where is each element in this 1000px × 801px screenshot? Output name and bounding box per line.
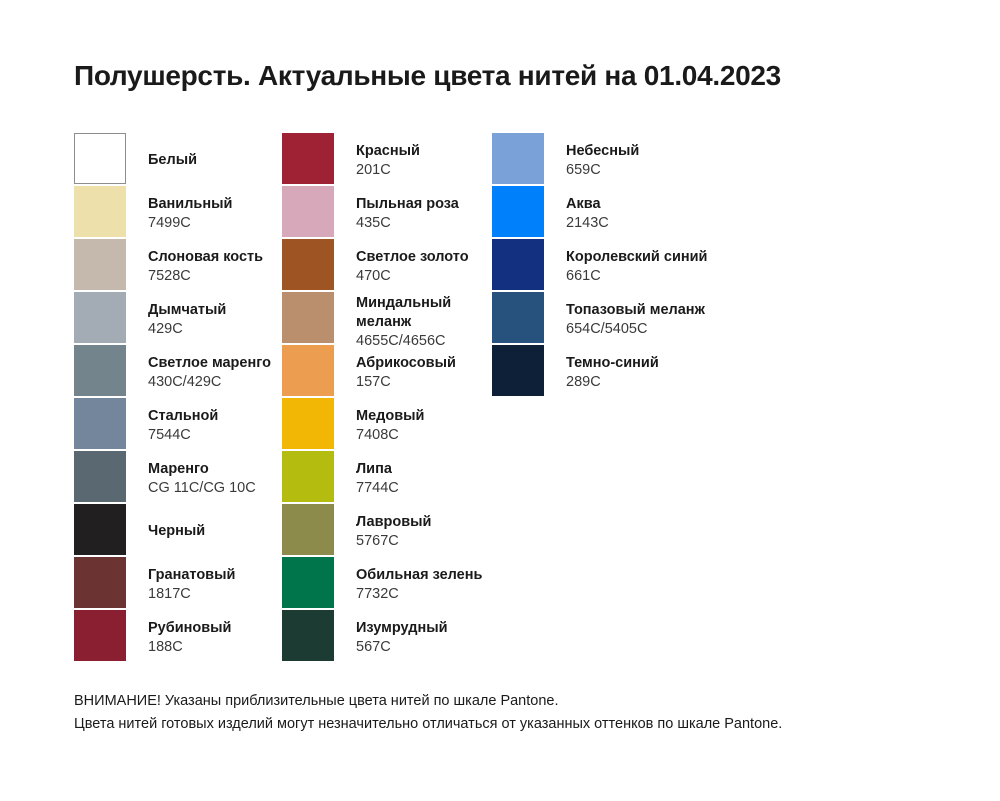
swatch-row: Королевский синий661C: [492, 239, 752, 292]
swatch-labels: Слоновая кость7528C: [148, 239, 263, 290]
color-name: Аква: [566, 195, 609, 214]
color-code: 5767C: [356, 532, 431, 551]
color-swatch: [492, 239, 544, 290]
color-code: 430C/429C: [148, 373, 271, 392]
color-swatch: [492, 292, 544, 343]
color-name: Дымчатый: [148, 301, 226, 320]
color-name: Светлое маренго: [148, 354, 271, 373]
color-swatch: [282, 557, 334, 608]
swatch-row: Обильная зелень7732C: [282, 557, 492, 610]
swatch-column-2: Небесный659CАква2143CКоролевский синий66…: [492, 133, 752, 663]
color-code: CG 11C/CG 10C: [148, 479, 256, 498]
color-swatch: [282, 610, 334, 661]
swatch-labels: Светлое маренго430C/429C: [148, 345, 271, 396]
color-code: 157C: [356, 373, 456, 392]
swatch-row: Черный: [74, 504, 282, 557]
swatch-labels: Темно-синий289C: [566, 345, 659, 396]
swatch-row: Дымчатый429C: [74, 292, 282, 345]
swatch-row: Медовый7408C: [282, 398, 492, 451]
color-code: 1817C: [148, 585, 235, 604]
color-name: Красный: [356, 142, 420, 161]
color-swatch: [282, 292, 334, 343]
color-code: 654C/5405C: [566, 320, 705, 339]
color-name: Стальной: [148, 407, 218, 426]
color-code: 7528C: [148, 267, 263, 286]
color-code: 7408C: [356, 426, 424, 445]
footer-notes: ВНИМАНИЕ! Указаны приблизительные цвета …: [74, 690, 954, 736]
swatch-labels: Лавровый5767C: [356, 504, 431, 555]
color-name: Черный: [148, 522, 205, 541]
color-swatch: [492, 345, 544, 396]
swatch-row: Липа7744C: [282, 451, 492, 504]
color-swatch: [282, 133, 334, 184]
swatch-row: Рубиновый188C: [74, 610, 282, 663]
color-name: Топазовый меланж: [566, 301, 705, 320]
color-name: Белый: [148, 151, 197, 170]
swatch-row: Небесный659C: [492, 133, 752, 186]
color-code: 7544C: [148, 426, 218, 445]
swatch-row: Аква2143C: [492, 186, 752, 239]
swatch-labels: Топазовый меланж654C/5405C: [566, 292, 705, 343]
color-swatch: [74, 292, 126, 343]
swatch-labels: Липа7744C: [356, 451, 399, 502]
swatch-row: Светлое маренго430C/429C: [74, 345, 282, 398]
swatch-labels: Абрикосовый157C: [356, 345, 456, 396]
color-name: Рубиновый: [148, 619, 231, 638]
swatch-labels: Черный: [148, 504, 205, 555]
color-code: 567C: [356, 638, 448, 657]
swatch-row: Красный201C: [282, 133, 492, 186]
color-swatch: [282, 239, 334, 290]
swatch-labels: Рубиновый188C: [148, 610, 231, 661]
swatch-row: Стальной7544C: [74, 398, 282, 451]
color-code: 435C: [356, 214, 459, 233]
swatch-labels: Гранатовый1817C: [148, 557, 235, 608]
color-name: Гранатовый: [148, 566, 235, 585]
color-code: 659C: [566, 161, 639, 180]
color-name: Абрикосовый: [356, 354, 456, 373]
swatch-row: Ванильный7499C: [74, 186, 282, 239]
swatch-labels: Красный201C: [356, 133, 420, 184]
page-title: Полушерсть. Актуальные цвета нитей на 01…: [74, 60, 781, 92]
color-swatch: [492, 133, 544, 184]
color-code: 201C: [356, 161, 420, 180]
swatch-labels: Небесный659C: [566, 133, 639, 184]
color-swatch: [74, 186, 126, 237]
color-name: Липа: [356, 460, 399, 479]
swatch-row: Светлое золото470C: [282, 239, 492, 292]
swatch-labels: МаренгоCG 11C/CG 10C: [148, 451, 256, 502]
color-code: 188C: [148, 638, 231, 657]
color-code: 429C: [148, 320, 226, 339]
color-swatch: [492, 186, 544, 237]
color-swatch: [74, 557, 126, 608]
color-code: 661C: [566, 267, 707, 286]
swatch-row: Темно-синий289C: [492, 345, 752, 398]
color-name: Обильная зелень: [356, 566, 482, 585]
color-name: Ванильный: [148, 195, 232, 214]
swatch-labels: Изумрудный567C: [356, 610, 448, 661]
color-swatch: [282, 504, 334, 555]
swatch-labels: Светлое золото470C: [356, 239, 469, 290]
swatch-row: Слоновая кость7528C: [74, 239, 282, 292]
color-code: 289C: [566, 373, 659, 392]
swatch-labels: Стальной7544C: [148, 398, 218, 449]
color-swatch: [282, 398, 334, 449]
swatch-row: Пыльная роза435C: [282, 186, 492, 239]
swatch-labels: Дымчатый429C: [148, 292, 226, 343]
color-name: Небесный: [566, 142, 639, 161]
color-name: Слоновая кость: [148, 248, 263, 267]
color-name: Миндальный меланж: [356, 294, 451, 332]
color-name: Медовый: [356, 407, 424, 426]
swatch-labels: Белый: [148, 133, 197, 184]
color-swatch: [74, 504, 126, 555]
swatch-labels: Пыльная роза435C: [356, 186, 459, 237]
swatch-row: Белый: [74, 133, 282, 186]
swatch-labels: Ванильный7499C: [148, 186, 232, 237]
color-code: 7744C: [356, 479, 399, 498]
swatch-labels: Медовый7408C: [356, 398, 424, 449]
swatch-labels: Миндальный меланж4655C/4656C: [356, 292, 451, 343]
color-name: Темно-синий: [566, 354, 659, 373]
swatch-columns: БелыйВанильный7499CСлоновая кость7528CДы…: [74, 133, 954, 663]
swatch-row: Гранатовый1817C: [74, 557, 282, 610]
swatch-labels: Обильная зелень7732C: [356, 557, 482, 608]
swatch-row: Абрикосовый157C: [282, 345, 492, 398]
color-swatch: [74, 451, 126, 502]
color-code: 2143C: [566, 214, 609, 233]
color-swatch: [282, 451, 334, 502]
color-name: Светлое золото: [356, 248, 469, 267]
color-code: 470C: [356, 267, 469, 286]
color-name: Лавровый: [356, 513, 431, 532]
swatch-row: Миндальный меланж4655C/4656C: [282, 292, 492, 345]
color-name: Изумрудный: [356, 619, 448, 638]
swatch-column-0: БелыйВанильный7499CСлоновая кость7528CДы…: [74, 133, 282, 663]
color-name: Королевский синий: [566, 248, 707, 267]
swatch-row: Лавровый5767C: [282, 504, 492, 557]
swatch-column-1: Красный201CПыльная роза435CСветлое золот…: [282, 133, 492, 663]
color-swatch: [74, 133, 126, 184]
color-code: 7499C: [148, 214, 232, 233]
swatch-row: Топазовый меланж654C/5405C: [492, 292, 752, 345]
color-code: 7732C: [356, 585, 482, 604]
color-name: Пыльная роза: [356, 195, 459, 214]
color-swatch: [282, 345, 334, 396]
color-swatch: [74, 398, 126, 449]
color-swatch: [74, 239, 126, 290]
footer-line-2: Цвета нитей готовых изделий могут незнач…: [74, 713, 954, 736]
swatch-labels: Аква2143C: [566, 186, 609, 237]
swatch-row: МаренгоCG 11C/CG 10C: [74, 451, 282, 504]
color-palette-page: Полушерсть. Актуальные цвета нитей на 01…: [0, 0, 1000, 801]
color-name: Маренго: [148, 460, 256, 479]
color-swatch: [282, 186, 334, 237]
color-swatch: [74, 345, 126, 396]
footer-line-1: ВНИМАНИЕ! Указаны приблизительные цвета …: [74, 690, 954, 713]
swatch-row: Изумрудный567C: [282, 610, 492, 663]
color-swatch: [74, 610, 126, 661]
swatch-labels: Королевский синий661C: [566, 239, 707, 290]
